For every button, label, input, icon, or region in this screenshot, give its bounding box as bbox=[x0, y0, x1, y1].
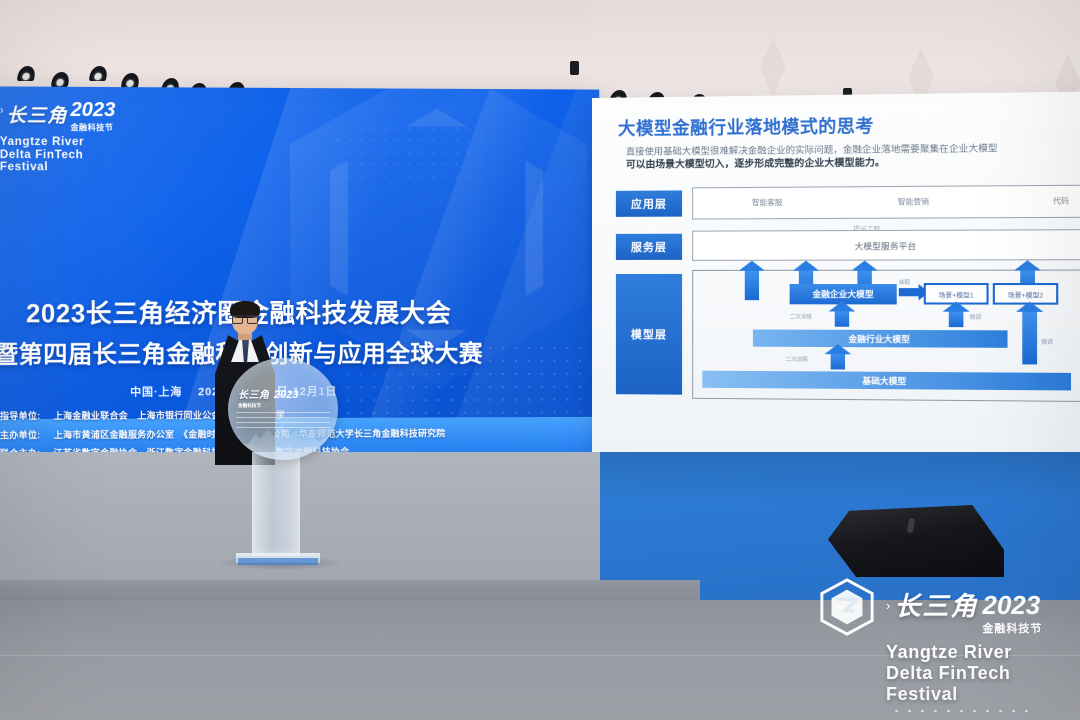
podium-logo: 长三角 2023 金融科技节 bbox=[238, 385, 330, 409]
logo-en-line2: Delta FinTech bbox=[0, 148, 182, 161]
application-layer-row: 智能客服 智能营销 代码 bbox=[692, 185, 1080, 220]
event-logo: › 长三角 2023 金融科技节 Yangtze River Delta Fin… bbox=[0, 101, 182, 175]
hanging-fixture-icon bbox=[570, 61, 579, 75]
arrow-label-extract: 抽取 bbox=[899, 278, 910, 286]
app-item-0: 智能客服 bbox=[752, 197, 783, 208]
service-layer-row: 大模型服务平台 bbox=[692, 229, 1080, 261]
watermark: › 长三角 2023 金融科技节 Yangtze River Delta Fin… bbox=[818, 578, 1068, 713]
logo-en-line3: Festival bbox=[0, 161, 182, 174]
logo-subtitle: 金融科技节 bbox=[70, 122, 115, 133]
watermark-en-line3: Festival bbox=[886, 684, 1042, 705]
industry-model-box: 金融行业大模型 bbox=[753, 330, 1008, 348]
podium-foot bbox=[238, 558, 318, 565]
arrow-label-finetune-2: 微调 bbox=[1041, 338, 1053, 346]
stage-light-icon bbox=[51, 72, 70, 87]
watermark-en-line1: Yangtze River bbox=[886, 642, 1042, 663]
service-platform-label: 大模型服务平台 bbox=[693, 240, 1080, 253]
arrow-label-retrain-1: 二次训练 bbox=[790, 312, 813, 320]
conference-photo-scene: › 长三角 2023 金融科技节 Yangtze River Delta Fin… bbox=[0, 0, 1080, 720]
event-location: 中国·上海 bbox=[130, 386, 182, 398]
app-item-2: 代码 bbox=[1053, 195, 1069, 206]
extract-arrow-right bbox=[899, 288, 920, 296]
watermark-dot-pattern bbox=[890, 706, 1030, 716]
layer-tag-application: 应用层 bbox=[616, 190, 682, 216]
flow-arrow-up bbox=[835, 310, 849, 326]
base-model-box: 基础大模型 bbox=[702, 371, 1071, 391]
podium-logo-sub: 金融科技节 bbox=[238, 403, 330, 409]
slide-body-line2: 可以由场景大模型切入，逐步形成完整的企业大模型能力。 bbox=[626, 155, 1080, 173]
watermark-text: › 长三角 2023 金融科技节 Yangtze River Delta Fin… bbox=[886, 592, 1042, 705]
slide-title: 大模型金融行业落地模式的思考 bbox=[618, 113, 874, 141]
arrow-label-finetune-1: 微调 bbox=[970, 313, 982, 321]
flow-arrow-up bbox=[745, 270, 759, 300]
watermark-arrow-icon: › bbox=[886, 592, 890, 620]
podium-logo-panel: 长三角 2023 金融科技节 bbox=[228, 358, 338, 460]
watermark-year: 2023 bbox=[982, 590, 1040, 620]
stage-light-icon bbox=[89, 66, 108, 81]
app-item-1: 智能营销 bbox=[898, 196, 929, 207]
watermark-en-line2: Delta FinTech bbox=[886, 663, 1042, 684]
layer-tag-service: 服务层 bbox=[616, 234, 682, 260]
podium-logo-cn: 长三角 bbox=[238, 390, 270, 401]
stage-shadow bbox=[600, 452, 1080, 502]
arrow-label-retrain-2: 二次训练 bbox=[786, 355, 809, 363]
podium-stem bbox=[252, 452, 300, 556]
logo-arrow-icon: › bbox=[0, 101, 4, 121]
stage-light-icon bbox=[121, 73, 140, 88]
slide-body: 直接使用基础大模型很难解决金融企业的实际问题，金融企业落地需要聚集在企业大模型 … bbox=[626, 140, 1080, 173]
logo-en-line1: Yangtze River bbox=[0, 136, 182, 149]
watermark-subtitle: 金融科技节 bbox=[982, 620, 1042, 636]
layer-tag-model: 模型层 bbox=[616, 274, 682, 395]
logo-year: 2023 bbox=[70, 99, 115, 121]
podium-logo-year: 2023 bbox=[274, 389, 298, 401]
logo-cn-name: 长三角 bbox=[7, 101, 68, 128]
stage-monitor-speaker bbox=[828, 505, 1004, 577]
flow-arrow-up bbox=[949, 311, 964, 327]
sponsor-role: 指导单位: bbox=[0, 411, 40, 421]
flow-arrow-up bbox=[831, 353, 845, 369]
dot-pattern bbox=[332, 122, 481, 182]
watermark-cn-name: 长三角 bbox=[894, 592, 978, 620]
flow-arrow-up bbox=[1022, 311, 1037, 365]
eyeglasses-icon bbox=[232, 315, 258, 321]
presentation-screen: 大模型金融行业落地模式的思考 直接使用基础大模型很难解决金融企业的实际问题，金融… bbox=[592, 91, 1080, 474]
stage-light-icon bbox=[17, 66, 36, 81]
cube-logo-icon bbox=[818, 578, 876, 636]
sponsor-role: 主办单位: bbox=[0, 430, 40, 440]
